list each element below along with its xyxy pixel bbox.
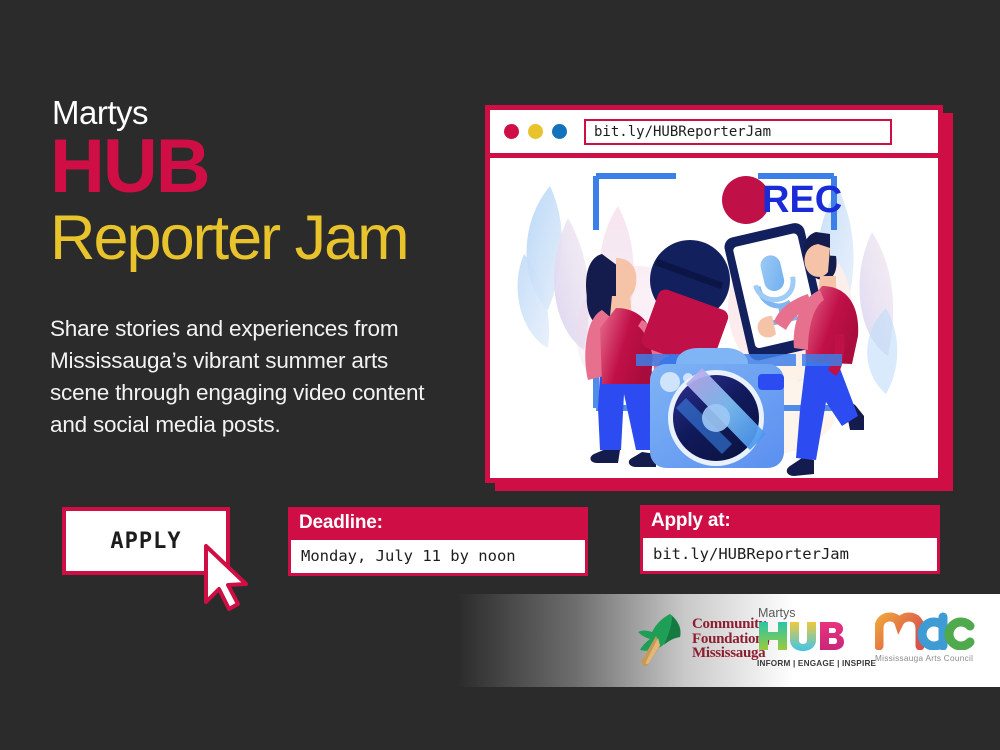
hub-logo-martys: Martys xyxy=(758,607,876,620)
minimize-dot-icon[interactable] xyxy=(528,124,543,139)
browser-viewport: REC xyxy=(490,158,938,477)
url-input[interactable]: bit.ly/HUBReporterJam xyxy=(584,119,892,145)
logo-mississauga-arts-council: Mississauga Arts Council xyxy=(875,612,975,663)
mac-logo-wordmark xyxy=(875,612,975,650)
hub-logo-tagline: INFORM | ENGAGE | INSPIRE xyxy=(757,659,876,668)
deadline-box: Deadline: Monday, July 11 by noon xyxy=(288,507,588,576)
body-copy: Share stories and experiences from Missi… xyxy=(50,313,450,441)
apply-button[interactable]: APPLY xyxy=(62,507,230,575)
browser-window: bit.ly/HUBReporterJam xyxy=(485,105,943,483)
deadline-value: Monday, July 11 by noon xyxy=(288,540,588,576)
browser-toolbar: bit.ly/HUBReporterJam xyxy=(490,110,938,158)
apply-button-label: APPLY xyxy=(110,529,181,554)
mac-logo-subtitle: Mississauga Arts Council xyxy=(875,654,975,663)
maple-leaf-seed-icon xyxy=(632,610,692,668)
rec-label: REC xyxy=(762,179,842,221)
logo-community-foundation: Community Foundationof Mississauga xyxy=(632,610,770,668)
poster-canvas: Martys HUB Reporter Jam Share stories an… xyxy=(0,0,1000,750)
title-line-hub: HUB xyxy=(50,131,408,203)
close-dot-icon[interactable] xyxy=(504,124,519,139)
logo-martys-hub: Martys xyxy=(757,607,876,668)
sponsor-logo-bar: Community Foundationof Mississauga Marty… xyxy=(457,594,1000,687)
url-text: bit.ly/HUBReporterJam xyxy=(594,124,771,140)
maximize-dot-icon[interactable] xyxy=(552,124,567,139)
apply-button-group: APPLY xyxy=(62,507,230,575)
apply-at-value[interactable]: bit.ly/HUBReporterJam xyxy=(640,538,940,574)
apply-at-box: Apply at: bit.ly/HUBReporterJam xyxy=(640,505,940,574)
apply-at-heading: Apply at: xyxy=(640,505,940,538)
deadline-heading: Deadline: xyxy=(288,507,588,540)
reporter-illustration: REC xyxy=(490,158,938,477)
window-control-dots xyxy=(504,124,567,139)
title-line-reporter-jam: Reporter Jam xyxy=(50,203,408,274)
hub-logo-wordmark xyxy=(757,620,849,652)
page-title: Martys HUB Reporter Jam xyxy=(50,96,408,274)
